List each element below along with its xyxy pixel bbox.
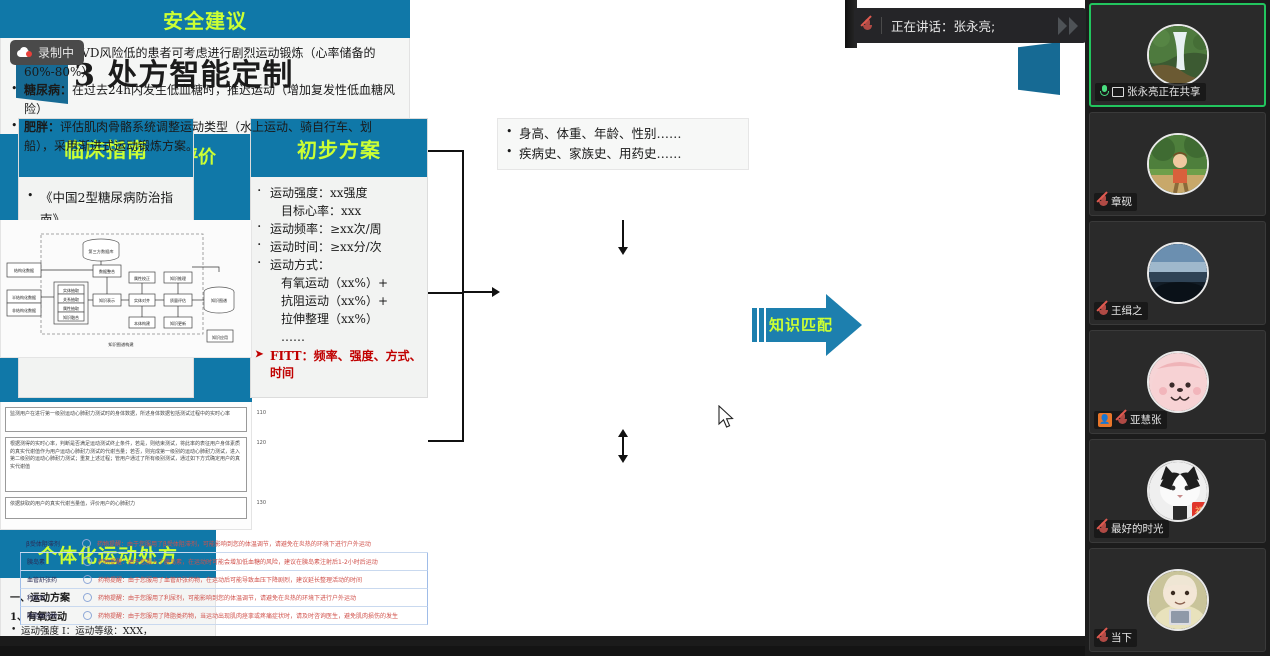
exercise-mode-item: 抗阻运动（xx%）+ bbox=[255, 292, 423, 310]
flow-step-text: 依据获取的用户的真实代谢当量值，评价用户的心肺耐力 bbox=[10, 501, 135, 507]
collapse-toolbar-icon[interactable] bbox=[1058, 17, 1078, 35]
connector-arrowhead bbox=[492, 287, 500, 297]
svg-text:实体抽取: 实体抽取 bbox=[63, 287, 79, 293]
svg-text:知识图谱构建: 知识图谱构建 bbox=[108, 341, 134, 348]
avatar bbox=[1147, 351, 1209, 413]
svg-text:知识表示: 知识表示 bbox=[99, 297, 115, 303]
basic-info-body: 身高、体重、年龄、性别…… 疾病史、家族史、用药史…… bbox=[498, 119, 748, 169]
table-row: 利尿剂 药物提醒：由于您服用了利尿剂，可能影响到您的体温调节，请避免在炎热的环境… bbox=[20, 589, 428, 607]
list-item: 运动强度：xx强度 bbox=[255, 184, 423, 202]
preliminary-plan-panel: 初步方案 运动强度：xx强度 目标心率：xxx 运动频率：≥xx次/周 运动时间… bbox=[250, 118, 428, 398]
host-badge-icon: 👤 bbox=[1098, 413, 1112, 427]
participant-tile[interactable]: 👤 亚慧张 bbox=[1089, 330, 1266, 434]
safety-label: 糖尿病： bbox=[24, 83, 72, 97]
flow-step-box: 监测用户在进行第一级别运动心肺耐力测试时的身体数据，所述身体数据包括测试过程中的… bbox=[5, 407, 247, 432]
info-icon bbox=[83, 575, 92, 584]
safety-label: 肥胖： bbox=[24, 120, 60, 134]
microphone-muted-icon bbox=[1098, 195, 1108, 208]
safety-text: 评估肌肉骨骼系统调整运动类型（水上运动、骑自行车、划船），采用渐进式运动锻炼方案… bbox=[24, 120, 372, 153]
svg-text:第三方数据库: 第三方数据库 bbox=[88, 248, 113, 255]
mouse-cursor bbox=[718, 405, 735, 433]
drug-message: 药物提醒：由于您服用了利尿剂，可能影响到您的体温调节，请避免在炎热的环境下进行户… bbox=[98, 593, 356, 602]
participant-name-tag: 当下 bbox=[1094, 629, 1137, 647]
flow-step-box: 根据测得的实时心率，判断是否满足运动测试终止条件，若是，则结束测试，将此率的表征… bbox=[5, 437, 247, 492]
target-heart-rate-text: 目标心率：xxx bbox=[255, 202, 423, 220]
participant-video-rail[interactable]: 张永亮正在共享 章砚 bbox=[1085, 0, 1270, 656]
preliminary-plan-body: 运动强度：xx强度 目标心率：xxx 运动频率：≥xx次/周 运动时间：≥xx分… bbox=[251, 177, 427, 385]
svg-text:属性抽取: 属性抽取 bbox=[63, 305, 79, 311]
list-item: 运动频率：≥xx次/周 bbox=[255, 220, 423, 238]
table-row: β受体阻滞剂 药物提醒：由于您服用了β受体阻滞剂，可能影响到您的体温调节，请避免… bbox=[20, 535, 428, 553]
flow-step-number: 120 bbox=[256, 440, 266, 448]
microphone-muted-icon bbox=[1117, 413, 1127, 426]
connector-line bbox=[462, 291, 494, 293]
list-item: 疾病史、家族史、用药史…… bbox=[504, 144, 742, 164]
svg-text:属性校正: 属性校正 bbox=[134, 275, 150, 281]
knowledge-match-arrow: 知识匹配 bbox=[752, 292, 864, 358]
svg-text:实体对齐: 实体对齐 bbox=[134, 297, 150, 303]
participant-tile[interactable]: 章砚 bbox=[1089, 112, 1266, 216]
microphone-muted-icon[interactable] bbox=[862, 19, 872, 32]
participant-name-tag: 👤 亚慧张 bbox=[1094, 411, 1167, 429]
microphone-on-icon bbox=[1099, 85, 1109, 98]
connector-line bbox=[462, 292, 464, 442]
svg-text:关系抽取: 关系抽取 bbox=[63, 296, 79, 302]
safety-advice-panel: 安全建议 高血压：CVD风险低的患者可考虑进行剧烈运动锻炼（心率储备的60%-8… bbox=[0, 0, 410, 134]
svg-text:知识应用: 知识应用 bbox=[212, 334, 228, 340]
participant-name-tag: 章砚 bbox=[1094, 193, 1137, 211]
info-icon bbox=[83, 593, 92, 602]
svg-text:半结构化数据: 半结构化数据 bbox=[12, 294, 36, 300]
slide-bottom-bar bbox=[0, 636, 1085, 646]
svg-text:知识融合: 知识融合 bbox=[63, 314, 79, 320]
knowledge-graph-svg: 第三方数据库 bbox=[1, 220, 251, 356]
drug-name: β受体阻滞剂 bbox=[20, 539, 76, 548]
list-item: 运动时间：≥xx分/次 bbox=[255, 238, 423, 256]
avatar bbox=[1147, 24, 1209, 86]
meeting-app-window: 3 处方智能定制 临床指南 《中国2型糖尿病防治指南》 《ACSM运动测试与运动… bbox=[0, 0, 1270, 656]
list-item: 糖尿病：在过去24h内发生低血糖时，推迟运动（增加复发性低血糖风险） bbox=[9, 81, 401, 118]
svg-text:结构化数据: 结构化数据 bbox=[14, 267, 34, 273]
svg-text:本体构建: 本体构建 bbox=[134, 320, 150, 326]
title-decoration-right bbox=[1018, 42, 1060, 95]
svg-text:知识图谱: 知识图谱 bbox=[211, 297, 227, 303]
participant-name-tag: 张永亮正在共享 bbox=[1095, 83, 1206, 101]
exercise-mode-item: …… bbox=[255, 328, 423, 346]
connector-line bbox=[428, 292, 464, 294]
participant-tile[interactable]: 福 最好的时光 bbox=[1089, 439, 1266, 543]
microphone-muted-icon bbox=[1098, 304, 1108, 317]
svg-text:福: 福 bbox=[1195, 505, 1205, 518]
divider bbox=[881, 17, 882, 34]
safety-advice-header: 安全建议 bbox=[0, 0, 410, 38]
participant-name-tag: 最好的时光 bbox=[1094, 520, 1169, 538]
cloud-recording-icon bbox=[17, 47, 33, 58]
knowledge-match-label: 知识匹配 bbox=[768, 314, 834, 335]
table-row: 胰岛素 药物提醒：由于您摄入了胰岛素，在运动时可能会增加低血糖的风险，建议在胰岛… bbox=[20, 553, 428, 571]
drug-name: 血管舒张药 bbox=[21, 575, 77, 584]
personal-exercise-test-body: 监测用户在进行第一级别运动心肺耐力测试时的身体数据，所述身体数据包括测试过程中的… bbox=[0, 402, 252, 530]
avatar bbox=[1147, 242, 1209, 304]
up-arrow-icon bbox=[622, 436, 624, 454]
down-arrow-icon bbox=[622, 220, 624, 248]
info-icon bbox=[83, 557, 92, 566]
participant-name: 当下 bbox=[1111, 630, 1132, 645]
avatar: 福 bbox=[1147, 460, 1209, 522]
safety-text: 在过去24h内发生低血糖时，推迟运动（增加复发性低血糖风险） bbox=[24, 83, 395, 116]
participant-name: 王缉之 bbox=[1111, 303, 1143, 318]
participant-name: 章砚 bbox=[1111, 194, 1132, 209]
svg-text:知识推理: 知识推理 bbox=[170, 275, 186, 281]
drug-message: 药物提醒：由于您服用了血管舒张药物，在运动后可能导致血压下降剧烈，建议延长整理活… bbox=[98, 575, 362, 584]
list-item: 运动方式： bbox=[255, 256, 423, 274]
participant-name: 张永亮正在共享 bbox=[1127, 84, 1201, 99]
list-item: 身高、体重、年龄、性别…… bbox=[504, 124, 742, 144]
participant-tile[interactable]: 王缉之 bbox=[1089, 221, 1266, 325]
drug-message: 药物提醒：由于您服用了β受体阻滞剂，可能影响到您的体温调节，请避免在炎热的环境下… bbox=[97, 539, 371, 548]
connector-line bbox=[462, 150, 464, 294]
participant-name: 亚慧张 bbox=[1130, 412, 1162, 427]
connector-line bbox=[428, 150, 464, 152]
flow-step-text: 根据测得的实时心率，判断是否满足运动测试终止条件，若是，则结束测试，将此率的表征… bbox=[10, 441, 240, 470]
screen-share-icon bbox=[1112, 87, 1124, 97]
participant-tile[interactable]: 当下 bbox=[1089, 548, 1266, 652]
drug-message: 药物提醒：由于您服用了降脂类药物，当运动出现肌肉痉挛或疼痛症状时，请及时咨询医生… bbox=[98, 611, 398, 620]
avatar bbox=[1147, 133, 1209, 195]
info-icon bbox=[82, 539, 91, 548]
microphone-muted-icon bbox=[1098, 631, 1108, 644]
flow-step-number: 110 bbox=[256, 410, 266, 418]
drug-reminder-table: β受体阻滞剂 药物提醒：由于您服用了β受体阻滞剂，可能影响到您的体温调节，请避免… bbox=[20, 535, 428, 630]
flow-step-text: 监测用户在进行第一级别运动心肺耐力测试时的身体数据，所述身体数据包括测试过程中的… bbox=[10, 411, 230, 417]
drug-name: 降脂类药物 bbox=[21, 611, 77, 620]
svg-text:质量评估: 质量评估 bbox=[170, 297, 186, 303]
active-speaker-label: 正在讲话：张永亮; bbox=[891, 16, 995, 35]
participant-name-tag: 王缉之 bbox=[1094, 302, 1148, 320]
drug-name: 胰岛素 bbox=[21, 557, 77, 566]
knowledge-graph-diagram: 第三方数据库 bbox=[0, 220, 252, 358]
connector-line bbox=[428, 440, 464, 442]
flow-step-number: 130 bbox=[256, 500, 266, 508]
table-row: 血管舒张药 药物提醒：由于您服用了血管舒张药物，在运动后可能导致血压下降剧烈，建… bbox=[20, 571, 428, 589]
fitt-highlight: FITT：频率、强度、方式、时间 bbox=[255, 348, 423, 383]
recording-badge[interactable]: 录制中 bbox=[10, 40, 84, 65]
recording-label: 录制中 bbox=[38, 44, 74, 61]
basic-info-panel: 身高、体重、年龄、性别…… 疾病史、家族史、用药史…… bbox=[497, 118, 749, 170]
flow-step-box: 依据获取的用户的真实代谢当量值，评价用户的心肺耐力 130 bbox=[5, 497, 247, 519]
avatar bbox=[1147, 569, 1209, 631]
drug-name: 利尿剂 bbox=[21, 593, 77, 602]
drug-message: 药物提醒：由于您摄入了胰岛素，在运动时可能会增加低血糖的风险，建议在胰岛素注射后… bbox=[98, 557, 378, 566]
svg-text:非结构化数据: 非结构化数据 bbox=[12, 307, 36, 313]
exercise-mode-item: 有氧运动（xx%）+ bbox=[255, 274, 423, 292]
list-item: 肥胖：评估肌肉骨骼系统调整运动类型（水上运动、骑自行车、划船），采用渐进式运动锻… bbox=[9, 118, 401, 155]
participant-tile[interactable]: 张永亮正在共享 bbox=[1089, 3, 1266, 107]
svg-text:数据整合: 数据整合 bbox=[99, 268, 115, 274]
microphone-muted-icon bbox=[1098, 522, 1108, 535]
shared-screen-slide[interactable]: 3 处方智能定制 临床指南 《中国2型糖尿病防治指南》 《ACSM运动测试与运动… bbox=[0, 0, 1085, 646]
active-speaker-bar[interactable]: 正在讲话：张永亮; bbox=[854, 8, 1086, 43]
participant-name: 最好的时光 bbox=[1111, 521, 1164, 536]
exercise-mode-item: 拉伸整理（xx%） bbox=[255, 310, 423, 328]
table-row: 降脂类药物 药物提醒：由于您服用了降脂类药物，当运动出现肌肉痉挛或疼痛症状时，请… bbox=[20, 607, 428, 625]
svg-text:知识更新: 知识更新 bbox=[170, 320, 186, 326]
info-icon bbox=[83, 611, 92, 620]
